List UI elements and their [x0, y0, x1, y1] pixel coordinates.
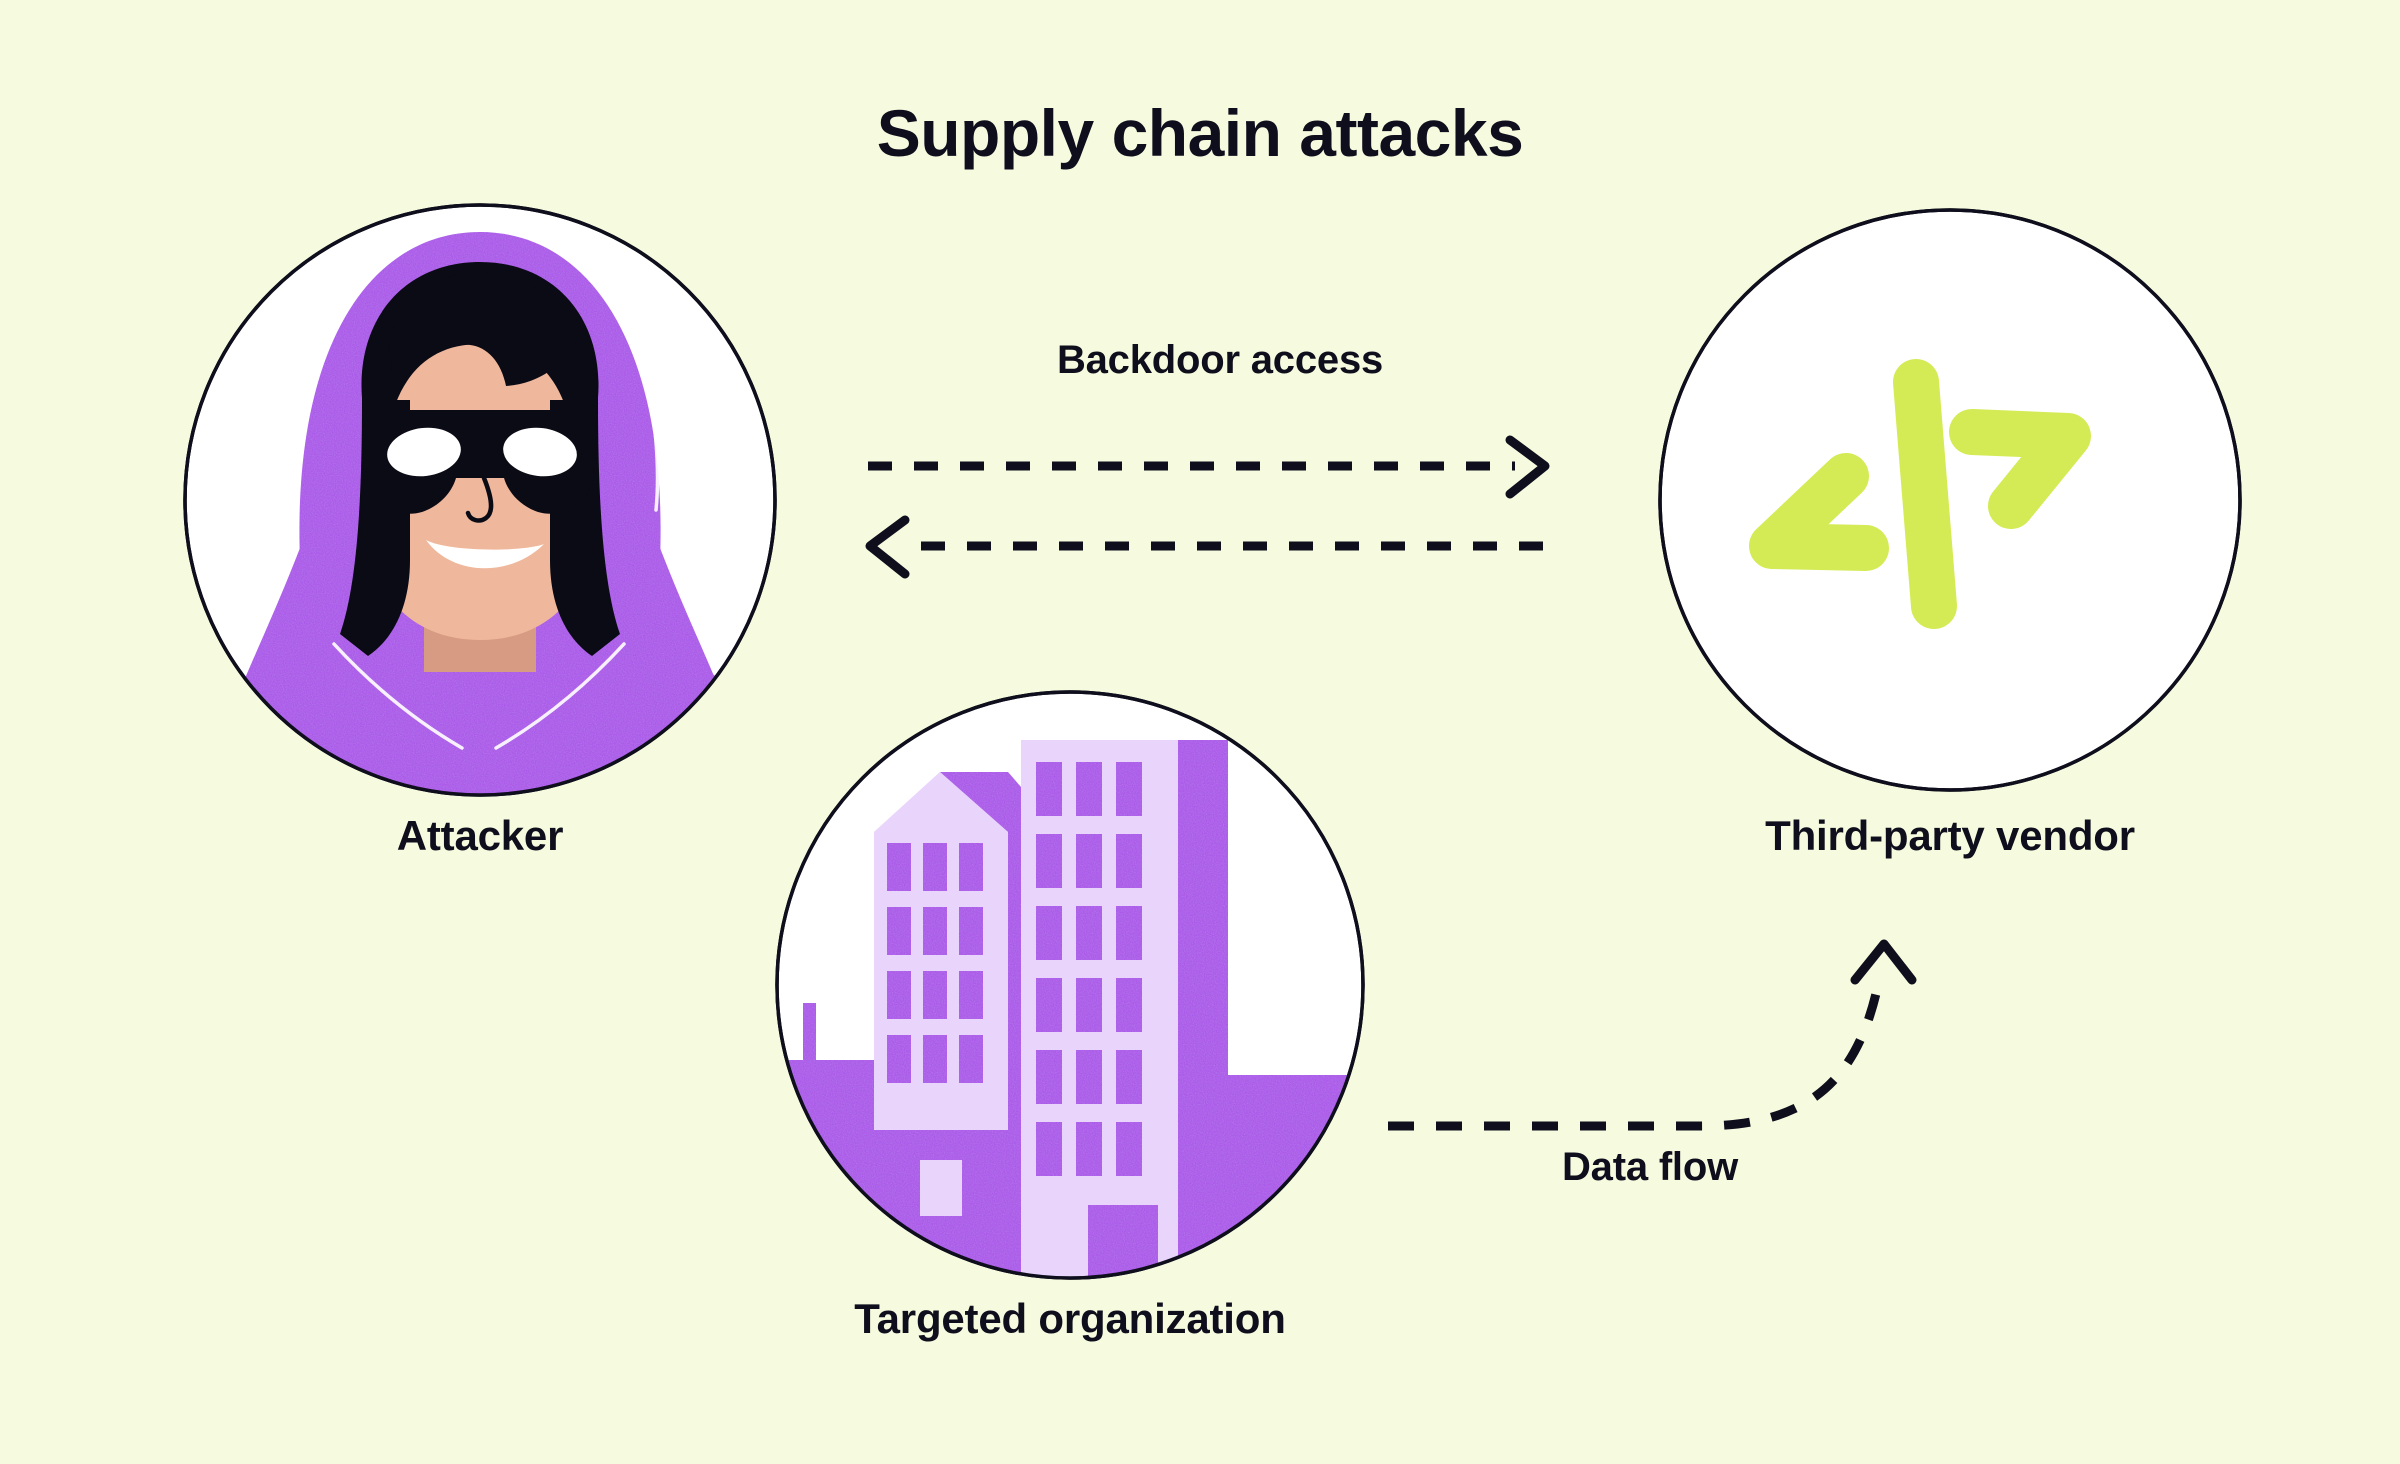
vendor-circle-frame [1660, 210, 2240, 790]
data-flow-arrowhead [1855, 944, 1912, 980]
backdoor-arrow-right [868, 440, 1545, 494]
infographic-canvas: Supply chain attacks Attacker Third-part… [0, 0, 2400, 1464]
diagram-graphics [0, 0, 2400, 1464]
edge-label-data-flow: Data flow [1430, 1145, 1870, 1190]
edge-data-flow [1388, 944, 1912, 1126]
node-label-third-party-vendor: Third-party vendor [1650, 812, 2250, 860]
node-label-targeted-organization: Targeted organization [770, 1295, 1370, 1343]
backdoor-arrow-left [870, 520, 1543, 574]
edge-backdoor-access [868, 440, 1545, 574]
node-attacker[interactable] [185, 205, 778, 795]
node-targeted-organization[interactable] [777, 692, 1365, 1278]
page-title: Supply chain attacks [0, 95, 2400, 171]
edge-label-backdoor-access: Backdoor access [940, 338, 1500, 383]
node-label-attacker: Attacker [180, 812, 780, 860]
